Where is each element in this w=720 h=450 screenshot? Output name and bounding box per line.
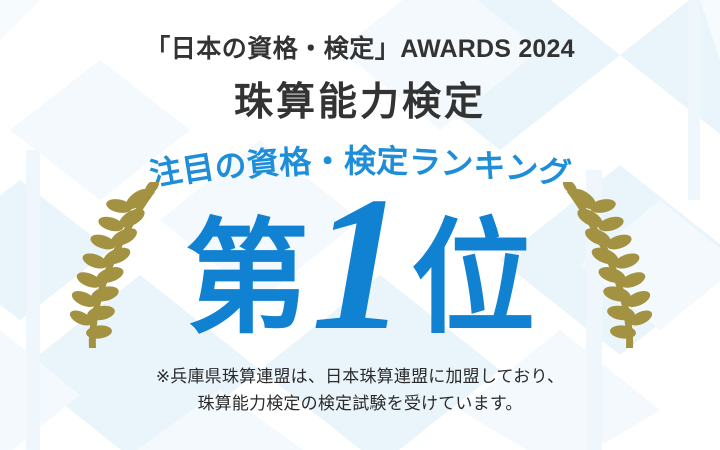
award-title-en: AWARDS 2024 — [400, 35, 575, 63]
ranking-sub-headline-char: ラ — [407, 136, 442, 184]
footnote: ※兵庫県珠算連盟は、日本珠算連盟に加盟しており、 珠算能力検定の検定試験を受けて… — [0, 363, 720, 417]
ranking-sub-headline-char: 資 — [244, 137, 280, 186]
ranking-sub-headline-char: ン — [439, 137, 475, 186]
rank-prefix: 第 — [185, 218, 309, 342]
rank-suffix: 位 — [411, 218, 535, 342]
footnote-line-2: 珠算能力検定の検定試験を受けています。 — [0, 390, 720, 417]
ranking-sub-headline-char: 格 — [278, 136, 313, 184]
ranking-sub-headline-char: キ — [471, 139, 509, 189]
ranking-sub-headline-char: の — [211, 139, 249, 189]
award-banner: 「日本の資格・検定」AWARDS 2024 珠算能力検定 注目の資格・検定ランキ… — [0, 0, 720, 450]
rank-number: 1 — [311, 168, 407, 360]
award-title-jp: 「日本の資格・検定」 — [145, 35, 400, 63]
award-title: 「日本の資格・検定」AWARDS 2024 — [0, 29, 720, 65]
rank-display: 第 1 位 — [0, 183, 720, 348]
exam-name: 珠算能力検定 — [0, 71, 720, 127]
